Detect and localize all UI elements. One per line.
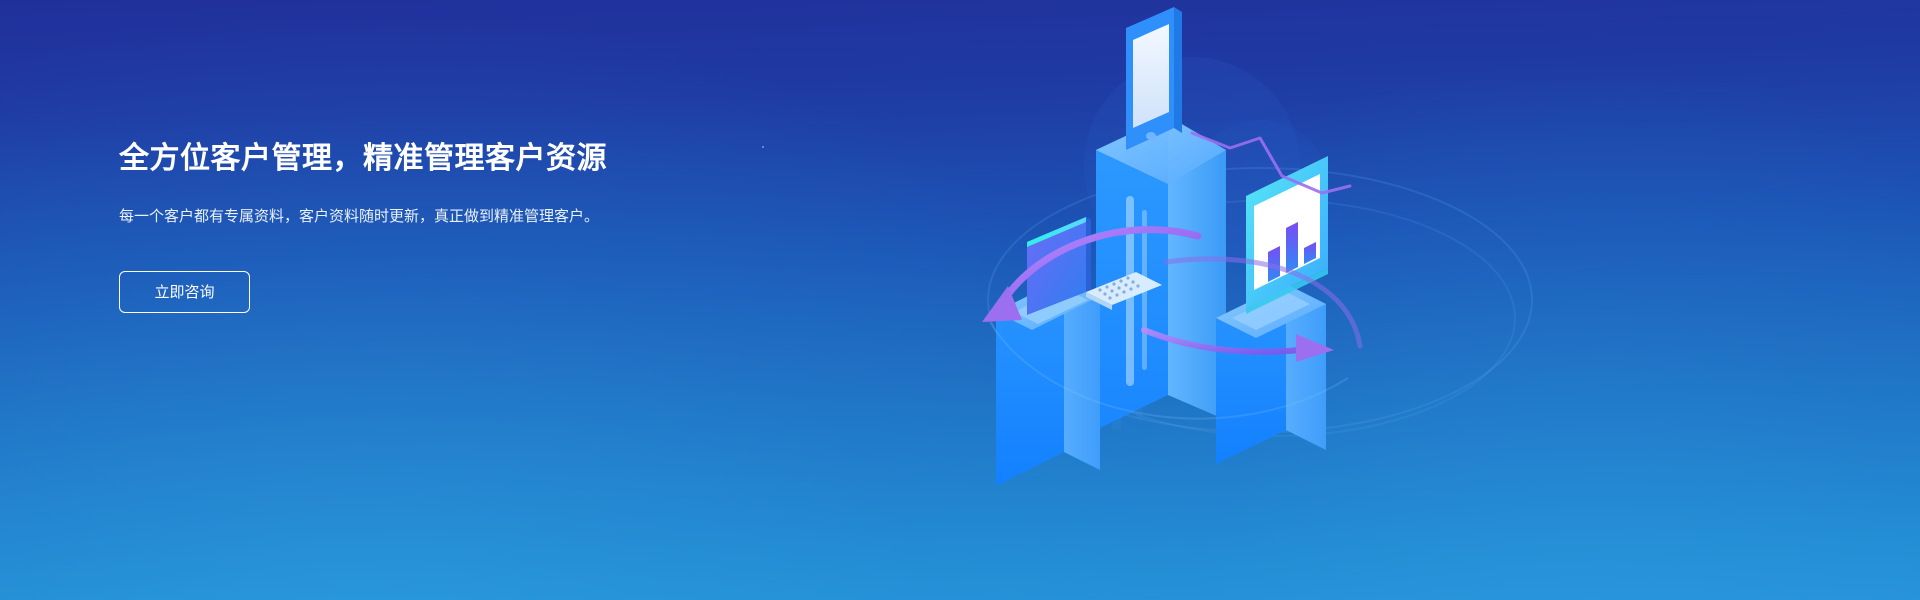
right-pedestal [1216, 284, 1326, 464]
decorative-dot [762, 146, 764, 148]
center-tall-pillar [1096, 116, 1226, 430]
hero-illustration [930, 0, 1630, 600]
hero-subcopy: 每一个客户都有专属资料，客户资料随时更新，真正做到精准管理客户。 [119, 205, 599, 229]
page-title: 全方位客户管理，精准管理客户资源 [119, 139, 739, 179]
hero-copy-block: 全方位客户管理，精准管理客户资源 每一个客户都有专属资料，客户资料随时更新，真正… [119, 139, 739, 313]
hero-banner: 全方位客户管理，精准管理客户资源 每一个客户都有专属资料，客户资料随时更新，真正… [0, 0, 1920, 600]
consult-now-button[interactable]: 立即咨询 [119, 271, 250, 313]
